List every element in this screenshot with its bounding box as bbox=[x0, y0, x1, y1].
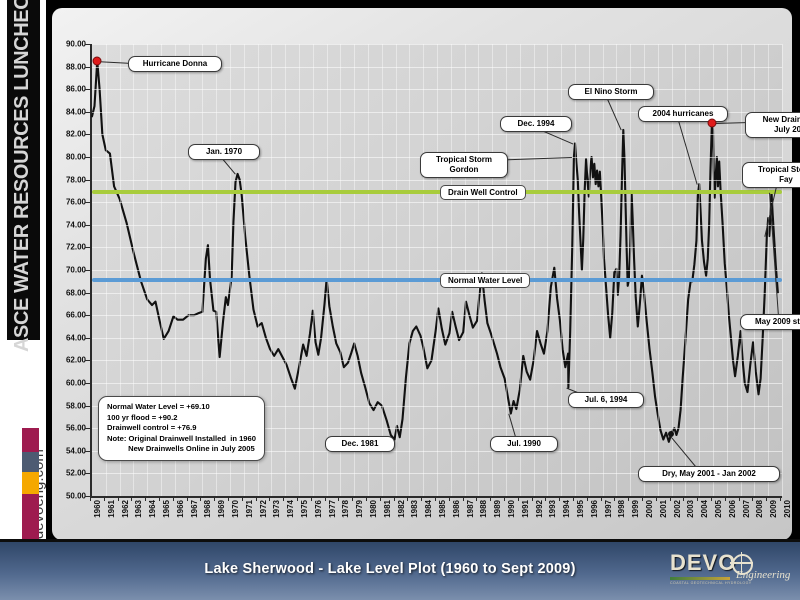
x-axis-tick-mark bbox=[504, 496, 505, 501]
annotation-tropical-storm-gordon: Tropical Storm Gordon bbox=[420, 152, 508, 178]
x-axis-tick-mark bbox=[711, 496, 712, 501]
annotation-jul-1990: Jul. 1990 bbox=[490, 436, 558, 452]
info-box-line-1: 100 yr flood = +90.2 bbox=[107, 413, 256, 424]
reference-label-normal-water-level: Normal Water Level bbox=[440, 273, 530, 288]
plot-wrapper: Water Surface Elevations (ft NGVD) 50.00… bbox=[90, 44, 780, 496]
y-axis-tick-mark bbox=[85, 406, 90, 407]
vertical-gridline bbox=[478, 44, 479, 496]
x-axis-tick-mark bbox=[159, 496, 160, 501]
x-axis-tick-mark bbox=[145, 496, 146, 501]
x-axis-tick-label: 1989 bbox=[493, 500, 502, 518]
x-axis-tick-mark bbox=[242, 496, 243, 501]
x-axis-tick-mark bbox=[697, 496, 698, 501]
y-axis-tick-mark bbox=[85, 180, 90, 181]
x-axis-tick-label: 1999 bbox=[631, 500, 640, 518]
color-swatch-slate bbox=[22, 452, 39, 472]
vertical-gridline bbox=[437, 44, 438, 496]
y-axis-tick-mark bbox=[85, 428, 90, 429]
x-axis-tick-label: 1974 bbox=[286, 500, 295, 518]
vertical-gridline bbox=[506, 44, 507, 496]
x-axis-tick-mark bbox=[394, 496, 395, 501]
x-axis-tick-label: 2007 bbox=[742, 500, 751, 518]
x-axis-tick-mark bbox=[518, 496, 519, 501]
info-box-line-0: Normal Water Level = +69.10 bbox=[107, 402, 256, 413]
x-axis-tick-label: 1988 bbox=[479, 500, 488, 518]
y-axis-tick-label: 62.00 bbox=[46, 356, 86, 365]
info-box-line-4: New Drainwells Online in July 2005 bbox=[107, 444, 256, 455]
logo-subtitle: COASTAL GEOTECHNICAL HYDROLOGY bbox=[670, 581, 752, 585]
x-axis-tick-label: 1995 bbox=[576, 500, 585, 518]
x-axis-tick-label: 1967 bbox=[190, 500, 199, 518]
y-axis-tick-label: 70.00 bbox=[46, 266, 86, 275]
color-swatch-magenta bbox=[22, 428, 39, 452]
x-axis-tick-mark bbox=[200, 496, 201, 501]
y-axis-tick-label: 66.00 bbox=[46, 311, 86, 320]
y-axis-tick-mark bbox=[85, 293, 90, 294]
x-axis-tick-label: 1979 bbox=[355, 500, 364, 518]
x-axis-tick-mark bbox=[587, 496, 588, 501]
y-axis-tick-label: 60.00 bbox=[46, 379, 86, 388]
x-axis-tick-label: 1992 bbox=[535, 500, 544, 518]
vertical-gridline bbox=[741, 44, 742, 496]
x-axis-tick-mark bbox=[104, 496, 105, 501]
vertical-gridline bbox=[465, 44, 466, 496]
y-axis-tick-label: 82.00 bbox=[46, 130, 86, 139]
x-axis-tick-label: 1977 bbox=[328, 500, 337, 518]
y-axis-tick-mark bbox=[85, 473, 90, 474]
y-axis-tick-mark bbox=[85, 112, 90, 113]
x-axis-tick-label: 1969 bbox=[217, 500, 226, 518]
x-axis-tick-label: 1984 bbox=[424, 500, 433, 518]
x-axis-tick-label: 1961 bbox=[107, 500, 116, 518]
x-axis-tick-mark bbox=[476, 496, 477, 501]
x-axis-tick-mark bbox=[642, 496, 643, 501]
y-axis-tick-mark bbox=[85, 225, 90, 226]
color-swatch-amber bbox=[22, 472, 39, 494]
x-axis-tick-label: 1993 bbox=[548, 500, 557, 518]
x-axis-tick-mark bbox=[228, 496, 229, 501]
chart-info-box: Normal Water Level = +69.10100 yr flood … bbox=[98, 396, 265, 461]
annotation-dry-may-2001-jan-2002: Dry, May 2001 - Jan 2002 bbox=[638, 466, 780, 482]
logo-color-bar bbox=[670, 577, 730, 580]
annotation-jan-1970: Jan. 1970 bbox=[188, 144, 260, 160]
vertical-gridline bbox=[423, 44, 424, 496]
vertical-gridline bbox=[354, 44, 355, 496]
x-axis-tick-label: 2000 bbox=[645, 500, 654, 518]
x-axis-tick-label: 1970 bbox=[231, 500, 240, 518]
x-axis-tick-label: 1962 bbox=[121, 500, 130, 518]
x-axis-tick-mark bbox=[214, 496, 215, 501]
y-axis-tick-mark bbox=[85, 67, 90, 68]
y-axis-tick-mark bbox=[85, 247, 90, 248]
logo-tagline: Engineering bbox=[736, 569, 790, 581]
x-axis-tick-mark bbox=[269, 496, 270, 501]
slide-canvas: ASCE WATER RESOURCES LUNCHEON 2010 www.d… bbox=[0, 0, 800, 600]
x-axis-tick-mark bbox=[421, 496, 422, 501]
x-axis-tick-mark bbox=[739, 496, 740, 501]
x-axis-tick-label: 2010 bbox=[783, 500, 792, 518]
y-axis-tick-label: 56.00 bbox=[46, 424, 86, 433]
x-axis-tick-label: 2002 bbox=[673, 500, 682, 518]
x-axis-tick-mark bbox=[614, 496, 615, 501]
y-axis-tick-mark bbox=[85, 134, 90, 135]
vertical-gridline bbox=[534, 44, 535, 496]
x-axis-tick-label: 1960 bbox=[93, 500, 102, 518]
x-axis-tick-label: 1982 bbox=[397, 500, 406, 518]
vertical-gridline bbox=[285, 44, 286, 496]
vertical-gridline bbox=[368, 44, 369, 496]
vertical-gridline bbox=[271, 44, 272, 496]
y-axis-tick-mark bbox=[85, 315, 90, 316]
vertical-gridline bbox=[340, 44, 341, 496]
x-axis-tick-label: 1965 bbox=[162, 500, 171, 518]
y-axis-tick-mark bbox=[85, 360, 90, 361]
annotation-may-2009-storm: May 2009 storm bbox=[740, 314, 800, 330]
highlight-marker-hurricane-donna-peak bbox=[93, 56, 102, 65]
y-axis-tick-label: 90.00 bbox=[46, 40, 86, 49]
x-axis-tick-label: 1963 bbox=[134, 500, 143, 518]
x-axis-tick-mark bbox=[559, 496, 560, 501]
logo-wordmark: DEVO bbox=[670, 550, 736, 576]
x-axis-tick-mark bbox=[683, 496, 684, 501]
x-axis-tick-mark bbox=[490, 496, 491, 501]
vertical-gridline bbox=[520, 44, 521, 496]
x-axis-tick-label: 1987 bbox=[466, 500, 475, 518]
y-axis-tick-label: 76.00 bbox=[46, 198, 86, 207]
x-axis-tick-mark bbox=[90, 496, 91, 501]
annotation-jul-6-1994: Jul. 6, 1994 bbox=[568, 392, 644, 408]
y-axis-tick-mark bbox=[85, 157, 90, 158]
x-axis-tick-label: 1996 bbox=[590, 500, 599, 518]
vertical-gridline bbox=[561, 44, 562, 496]
x-axis-tick-label: 1990 bbox=[507, 500, 516, 518]
x-axis-tick-mark bbox=[545, 496, 546, 501]
x-axis-tick-mark bbox=[407, 496, 408, 501]
x-axis-tick-label: 1985 bbox=[438, 500, 447, 518]
x-axis-tick-mark bbox=[283, 496, 284, 501]
y-axis-tick-mark bbox=[85, 383, 90, 384]
vertical-gridline bbox=[603, 44, 604, 496]
x-axis-tick-mark bbox=[173, 496, 174, 501]
y-axis-tick-label: 58.00 bbox=[46, 401, 86, 410]
x-axis-tick-label: 1966 bbox=[176, 500, 185, 518]
vertical-gridline bbox=[492, 44, 493, 496]
x-axis-tick-mark bbox=[256, 496, 257, 501]
y-axis-tick-mark bbox=[85, 338, 90, 339]
x-axis-tick-label: 1998 bbox=[617, 500, 626, 518]
x-axis-tick-label: 1976 bbox=[314, 500, 323, 518]
y-axis-tick-label: 80.00 bbox=[46, 153, 86, 162]
x-axis-tick-mark bbox=[628, 496, 629, 501]
vertical-gridline bbox=[396, 44, 397, 496]
x-axis-tick-label: 1971 bbox=[245, 500, 254, 518]
vertical-gridline bbox=[313, 44, 314, 496]
x-axis-tick-label: 1986 bbox=[452, 500, 461, 518]
x-axis-tick-label: 2009 bbox=[769, 500, 778, 518]
x-axis-tick-label: 2004 bbox=[700, 500, 709, 518]
x-axis-tick-label: 1968 bbox=[203, 500, 212, 518]
x-axis-tick-label: 1972 bbox=[259, 500, 268, 518]
x-axis-tick-mark bbox=[532, 496, 533, 501]
vertical-gridline bbox=[327, 44, 328, 496]
x-axis-tick-mark bbox=[449, 496, 450, 501]
event-title-vertical: ASCE WATER RESOURCES LUNCHEON 2010 bbox=[5, 2, 39, 352]
x-axis-tick-label: 1983 bbox=[410, 500, 419, 518]
chart-panel: Water Surface Elevations (ft NGVD) 50.00… bbox=[52, 8, 792, 540]
x-axis-tick-mark bbox=[311, 496, 312, 501]
x-axis-tick-mark bbox=[380, 496, 381, 501]
x-axis-tick-mark bbox=[463, 496, 464, 501]
annotation-new-drainwells-july-2005: New Drainwells July 2005 bbox=[745, 112, 800, 138]
y-axis-tick-mark bbox=[85, 270, 90, 271]
y-axis-tick-label: 78.00 bbox=[46, 175, 86, 184]
y-axis-tick-label: 74.00 bbox=[46, 220, 86, 229]
vertical-gridline bbox=[575, 44, 576, 496]
highlight-marker-new-drainwells-peak bbox=[707, 119, 716, 128]
vertical-gridline bbox=[547, 44, 548, 496]
vertical-gridline bbox=[616, 44, 617, 496]
x-axis-tick-mark bbox=[573, 496, 574, 501]
x-axis-tick-mark bbox=[725, 496, 726, 501]
vertical-gridline bbox=[630, 44, 631, 496]
annotation-tropical-storm-fay: Tropical Storm Fay bbox=[742, 162, 800, 188]
x-axis-tick-mark bbox=[352, 496, 353, 501]
x-axis-tick-mark bbox=[656, 496, 657, 501]
x-axis-tick-mark bbox=[670, 496, 671, 501]
x-axis-tick-label: 1964 bbox=[148, 500, 157, 518]
annotation-hurricane-donna: Hurricane Donna bbox=[128, 56, 222, 72]
vertical-gridline bbox=[382, 44, 383, 496]
x-axis-tick-label: 1975 bbox=[300, 500, 309, 518]
y-axis-tick-mark bbox=[85, 451, 90, 452]
x-axis-tick-mark bbox=[601, 496, 602, 501]
x-axis-tick-mark bbox=[338, 496, 339, 501]
x-axis-tick-label: 1980 bbox=[369, 500, 378, 518]
y-axis-tick-label: 54.00 bbox=[46, 446, 86, 455]
x-axis-tick-label: 1973 bbox=[272, 500, 281, 518]
y-axis-tick-label: 68.00 bbox=[46, 288, 86, 297]
x-axis-tick-mark bbox=[297, 496, 298, 501]
annotation-dec-1994: Dec. 1994 bbox=[500, 116, 572, 132]
x-axis-tick-mark bbox=[780, 496, 781, 501]
x-axis-tick-label: 2008 bbox=[755, 500, 764, 518]
x-axis-tick-mark bbox=[752, 496, 753, 501]
x-axis-tick-mark bbox=[118, 496, 119, 501]
left-branding-bar: ASCE WATER RESOURCES LUNCHEON 2010 www.d… bbox=[0, 0, 46, 600]
x-axis-tick-mark bbox=[325, 496, 326, 501]
y-axis-tick-mark bbox=[85, 89, 90, 90]
x-axis-tick-mark bbox=[131, 496, 132, 501]
x-axis-tick-mark bbox=[187, 496, 188, 501]
y-axis-tick-label: 50.00 bbox=[46, 492, 86, 501]
x-axis-tick-label: 2001 bbox=[659, 500, 668, 518]
x-axis-tick-label: 1991 bbox=[521, 500, 530, 518]
y-axis-tick-label: 52.00 bbox=[46, 469, 86, 478]
y-axis-tick-label: 72.00 bbox=[46, 243, 86, 252]
reference-label-drain-well-control: Drain Well Control bbox=[440, 185, 526, 200]
vertical-gridline bbox=[299, 44, 300, 496]
x-axis-tick-label: 2005 bbox=[714, 500, 723, 518]
x-axis-tick-label: 1994 bbox=[562, 500, 571, 518]
footer-band: Lake Sherwood - Lake Level Plot (1960 to… bbox=[0, 542, 800, 600]
annotation-el-nino-storm: El Nino Storm bbox=[568, 84, 654, 100]
chart-title: Lake Sherwood - Lake Level Plot (1960 to… bbox=[180, 558, 600, 580]
y-axis-tick-label: 64.00 bbox=[46, 333, 86, 342]
annotation-dec-1981: Dec. 1981 bbox=[325, 436, 395, 452]
x-axis-tick-label: 1981 bbox=[383, 500, 392, 518]
reference-line-normal-water-level bbox=[92, 278, 782, 282]
x-axis-tick-mark bbox=[435, 496, 436, 501]
devo-engineering-logo: DEVO Engineering COASTAL GEOTECHNICAL HY… bbox=[670, 548, 788, 590]
info-box-line-3: Note: Original Drainwell Installed in 19… bbox=[107, 434, 256, 445]
x-axis-tick-label: 1978 bbox=[341, 500, 350, 518]
x-axis-tick-label: 1997 bbox=[604, 500, 613, 518]
x-axis-tick-label: 2006 bbox=[728, 500, 737, 518]
highlight-marker-dry-period-point bbox=[668, 431, 674, 437]
info-box-line-2: Drainwell control = +76.9 bbox=[107, 423, 256, 434]
vertical-gridline bbox=[409, 44, 410, 496]
y-axis-tick-label: 86.00 bbox=[46, 85, 86, 94]
y-axis-tick-mark bbox=[85, 202, 90, 203]
reference-line-drain-well-control bbox=[92, 190, 782, 194]
x-axis-tick-mark bbox=[766, 496, 767, 501]
y-axis-tick-label: 84.00 bbox=[46, 107, 86, 116]
y-axis-tick-mark bbox=[85, 44, 90, 45]
y-axis-tick-label: 88.00 bbox=[46, 62, 86, 71]
x-axis-tick-mark bbox=[366, 496, 367, 501]
vertical-gridline bbox=[589, 44, 590, 496]
vertical-gridline bbox=[451, 44, 452, 496]
x-axis-tick-label: 2003 bbox=[686, 500, 695, 518]
